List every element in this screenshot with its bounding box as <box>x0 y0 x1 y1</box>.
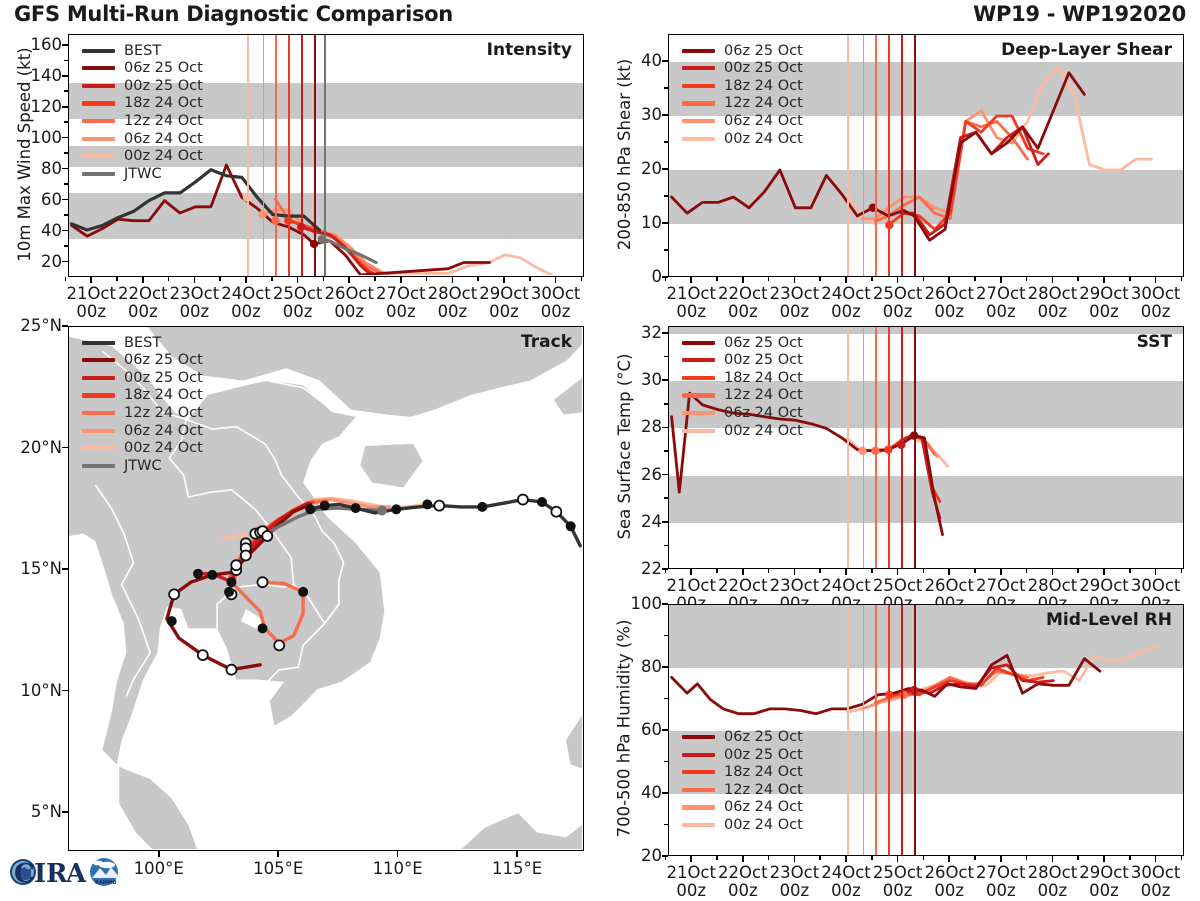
x-tick-mark <box>794 856 796 862</box>
y-tick-label: 30 <box>616 105 662 124</box>
x-tick-mark <box>1052 569 1054 575</box>
y-tick-mark <box>62 106 68 108</box>
x-minor-tick-mark <box>716 569 718 573</box>
x-minor-tick-mark <box>426 277 428 281</box>
y-tick-mark <box>62 137 68 139</box>
x-tick-hour: 00z <box>1120 882 1192 900</box>
x-tick-mark <box>452 277 454 283</box>
legend-label: 00z 25 Oct <box>124 79 203 94</box>
legend-item-06z-25-oct[interactable]: 06z 25 Oct <box>82 60 203 78</box>
map-y-tick-label: 20°N <box>2 438 62 457</box>
legend-swatch-00z-25-oct <box>682 358 715 362</box>
legend-label: 00z 24 Oct <box>724 818 803 833</box>
legend-swatch-18z-24-oct <box>82 393 115 397</box>
legend-item-06z-24-oct[interactable]: 06z 24 Oct <box>682 112 803 130</box>
y-tick-label: 60 <box>16 190 62 209</box>
init-time-line-00z-24-oct <box>847 605 849 855</box>
y-tick-label: 22 <box>616 559 662 578</box>
legend-swatch-00z-25-oct <box>682 66 715 70</box>
init-time-line-12z-24-oct <box>875 605 877 855</box>
legend-swatch-18z-24-oct <box>682 84 715 88</box>
x-minor-tick-mark <box>819 569 821 573</box>
map-x-tick-mark <box>397 851 399 857</box>
legend-label: 18z 24 Oct <box>724 79 803 94</box>
x-minor-tick-mark <box>716 277 718 281</box>
legend-label: 06z 24 Oct <box>124 132 203 147</box>
legend-swatch-06z-24-oct <box>682 805 715 809</box>
x-tick-mark <box>194 277 196 283</box>
y-axis-label-sst: Sea Surface Temp (°C) <box>615 325 634 568</box>
land-se-china-coast <box>554 376 582 415</box>
x-tick-mark <box>555 277 557 283</box>
track-position-marker <box>422 499 432 509</box>
x-tick-mark <box>1000 569 1002 575</box>
legend-item-06z-24-oct[interactable]: 06z 24 Oct <box>682 404 803 422</box>
legend-label: 00z 24 Oct <box>724 424 803 439</box>
legend-swatch-06z-25-oct <box>682 341 715 345</box>
legend-swatch-00z-25-oct <box>82 376 115 380</box>
x-minor-tick-mark <box>219 277 221 281</box>
x-tick-date: 30Oct <box>520 285 592 303</box>
x-minor-tick-mark <box>116 277 118 281</box>
track-position-marker <box>241 550 251 560</box>
legend-item-best[interactable]: BEST <box>82 334 203 352</box>
chart-legend: 06z 25 Oct00z 25 Oct18z 24 Oct12z 24 Oct… <box>682 42 803 148</box>
init-time-line-00z-24-oct <box>247 35 249 276</box>
x-minor-tick-mark <box>871 569 873 573</box>
x-minor-tick-mark <box>1129 856 1131 860</box>
init-time-line-12z-24-oct <box>275 35 277 276</box>
x-minor-tick-mark <box>974 277 976 281</box>
y-tick-label: 120 <box>16 97 62 116</box>
chart-legend: 06z 25 Oct00z 25 Oct18z 24 Oct12z 24 Oct… <box>682 334 803 440</box>
legend-item-06z-25-oct[interactable]: 06z 25 Oct <box>682 334 803 352</box>
track-position-marker <box>537 497 547 507</box>
y-tick-mark <box>662 379 668 381</box>
border-thailand-malaysia <box>167 774 203 789</box>
x-tick-label: 30Oct00z <box>1120 864 1192 901</box>
x-minor-tick-mark <box>271 277 273 281</box>
x-tick-mark <box>742 277 744 283</box>
legend-label: 00z 25 Oct <box>724 61 803 76</box>
legend-label: 00z 24 Oct <box>724 132 803 147</box>
x-tick-mark <box>142 277 144 283</box>
y-minor-tick-mark <box>64 245 68 247</box>
x-minor-tick-mark <box>768 277 770 281</box>
legend-label: 12z 24 Oct <box>724 388 803 403</box>
x-minor-tick-mark <box>974 856 976 860</box>
x-minor-tick-mark <box>1129 569 1131 573</box>
x-tick-mark <box>1155 277 1157 283</box>
x-tick-mark <box>348 277 350 283</box>
x-minor-tick-mark <box>768 569 770 573</box>
map-y-tick-mark <box>62 811 68 813</box>
y-minor-tick-mark <box>664 824 668 826</box>
legend-swatch-06z-25-oct <box>682 735 715 739</box>
legend-swatch-12z-24-oct <box>82 411 115 415</box>
series-line-00z-24-oct <box>247 198 552 275</box>
legend-item-00z-24-oct[interactable]: 00z 24 Oct <box>682 422 803 440</box>
x-tick-mark <box>690 277 692 283</box>
y-tick-mark <box>662 792 668 794</box>
y-tick-label: 80 <box>16 159 62 178</box>
legend-label: 06z 25 Oct <box>724 730 803 745</box>
legend-item-06z-24-oct[interactable]: 06z 24 Oct <box>82 130 203 148</box>
legend-item-00z-24-oct[interactable]: 00z 24 Oct <box>82 148 203 166</box>
legend-label: JTWC <box>124 459 162 474</box>
legend-swatch-00z-24-oct <box>82 154 115 158</box>
legend-label: 06z 25 Oct <box>724 44 803 59</box>
page-title: GFS Multi-Run Diagnostic Comparison <box>14 2 453 30</box>
legend-item-12z-24-oct[interactable]: 12z 24 Oct <box>82 112 203 130</box>
series-line-06z-24-oct <box>863 111 1013 219</box>
x-minor-tick-mark <box>1077 856 1079 860</box>
init-time-line-06z-25-oct <box>914 35 916 276</box>
y-tick-mark <box>662 222 668 224</box>
x-minor-tick-mark <box>768 856 770 860</box>
y-tick-label: 20 <box>16 252 62 271</box>
y-tick-label: 20 <box>616 846 662 865</box>
y-minor-tick-mark <box>664 195 668 197</box>
legend-item-18z-24-oct[interactable]: 18z 24 Oct <box>682 77 803 95</box>
y-minor-tick-mark <box>664 356 668 358</box>
legend-swatch-00z-24-oct <box>682 429 715 433</box>
init-time-line-06z-24-oct <box>863 605 865 855</box>
legend-item-best[interactable]: BEST <box>82 42 203 60</box>
panel-title-rh: Mid-Level RH <box>668 610 1172 630</box>
x-minor-tick-mark <box>1181 569 1183 573</box>
storm-id-title: WP19 - WP192020 <box>973 2 1186 30</box>
legend-item-18z-24-oct[interactable]: 18z 24 Oct <box>82 387 203 405</box>
y-tick-mark <box>662 168 668 170</box>
x-minor-tick-mark <box>581 277 583 281</box>
legend-label: 06z 24 Oct <box>724 800 803 815</box>
x-tick-mark <box>297 277 299 283</box>
legend-item-12z-24-oct[interactable]: 12z 24 Oct <box>682 781 803 799</box>
legend-item-00z-25-oct[interactable]: 00z 25 Oct <box>682 746 803 764</box>
y-minor-tick-mark <box>64 90 68 92</box>
legend-item-18z-24-oct[interactable]: 18z 24 Oct <box>682 764 803 782</box>
land-borneo <box>370 813 582 849</box>
legend-swatch-12z-24-oct <box>682 101 715 105</box>
legend-label: 00z 24 Oct <box>124 149 203 164</box>
x-tick-mark <box>948 856 950 862</box>
y-tick-mark <box>62 168 68 170</box>
legend-item-06z-24-oct[interactable]: 06z 24 Oct <box>82 422 203 440</box>
x-minor-tick-mark <box>1026 856 1028 860</box>
series-line-06z-25-oct <box>672 655 1100 713</box>
track-position-marker <box>551 507 561 517</box>
x-tick-date: 30Oct <box>1120 285 1192 303</box>
x-minor-tick-mark <box>1077 277 1079 281</box>
track-position-marker <box>262 531 272 541</box>
x-tick-mark <box>1103 856 1105 862</box>
init-time-line-00z-25-oct <box>901 605 903 855</box>
y-minor-tick-mark <box>664 635 668 637</box>
map-x-tick-mark <box>158 851 160 857</box>
x-minor-tick-mark <box>665 569 667 573</box>
y-minor-tick-mark <box>664 497 668 499</box>
legend-swatch-18z-24-oct <box>82 101 115 105</box>
legend-swatch-06z-24-oct <box>82 137 115 141</box>
legend-label: 12z 24 Oct <box>724 783 803 798</box>
y-tick-label: 24 <box>616 512 662 531</box>
x-tick-mark <box>845 856 847 862</box>
map-y-tick-mark <box>62 690 68 692</box>
y-minor-tick-mark <box>64 121 68 123</box>
x-minor-tick-mark <box>716 856 718 860</box>
map-y-tick-mark <box>62 568 68 570</box>
y-tick-mark <box>662 729 668 731</box>
x-tick-mark <box>1000 277 1002 283</box>
legend-item-00z-24-oct[interactable]: 00z 24 Oct <box>682 130 803 148</box>
track-position-marker <box>477 502 487 512</box>
x-minor-tick-mark <box>65 277 67 281</box>
legend-swatch-18z-24-oct <box>682 376 715 380</box>
y-tick-mark <box>62 230 68 232</box>
svg-text:RAMMB: RAMMB <box>95 880 117 886</box>
x-tick-mark <box>948 569 950 575</box>
y-tick-mark <box>662 60 668 62</box>
y-minor-tick-mark <box>64 183 68 185</box>
legend-swatch-jtwc <box>82 172 115 176</box>
legend-swatch-00z-24-oct <box>682 137 715 141</box>
x-tick-mark <box>1052 277 1054 283</box>
init-time-line-12z-24-oct <box>875 35 877 276</box>
x-minor-tick-mark <box>923 569 925 573</box>
init-time-line-00z-25-oct <box>901 35 903 276</box>
track-position-marker <box>167 616 177 626</box>
x-tick-mark <box>897 856 899 862</box>
x-minor-tick-mark <box>1026 277 1028 281</box>
y-minor-tick-mark <box>664 403 668 405</box>
init-time-line-00z-25-oct <box>301 35 303 276</box>
y-tick-label: 100 <box>16 128 62 147</box>
legend-label: 12z 24 Oct <box>124 114 203 129</box>
legend-item-18z-24-oct[interactable]: 18z 24 Oct <box>682 369 803 387</box>
x-tick-mark <box>845 277 847 283</box>
legend-label: 18z 24 Oct <box>124 388 203 403</box>
legend-swatch-18z-24-oct <box>682 770 715 774</box>
legend-item-12z-24-oct[interactable]: 12z 24 Oct <box>682 95 803 113</box>
init-time-line-00z-25-oct <box>901 327 903 568</box>
x-minor-tick-mark <box>323 277 325 281</box>
init-time-line-18z-24-oct <box>888 605 890 855</box>
map-y-tick-label: 15°N <box>2 559 62 578</box>
init-time-line-18z-24-oct <box>888 35 890 276</box>
legend-swatch-12z-24-oct <box>82 119 115 123</box>
track-position-marker <box>377 506 387 516</box>
track-position-marker <box>226 577 236 587</box>
legend-item-jtwc[interactable]: JTWC <box>82 165 203 183</box>
svg-text:A: A <box>65 859 87 889</box>
track-position-marker <box>207 570 217 580</box>
x-tick-mark <box>400 277 402 283</box>
x-tick-mark <box>742 856 744 862</box>
x-tick-mark <box>690 569 692 575</box>
legend-label: BEST <box>124 336 161 351</box>
legend-label: 18z 24 Oct <box>124 96 203 111</box>
legend-swatch-jtwc <box>82 464 115 468</box>
init-time-line-06z-24-oct <box>863 35 865 276</box>
legend-item-06z-25-oct[interactable]: 06z 25 Oct <box>682 42 803 60</box>
legend-swatch-06z-24-oct <box>682 119 715 123</box>
legend-item-06z-24-oct[interactable]: 06z 24 Oct <box>682 799 803 817</box>
x-tick-date: 30Oct <box>1120 577 1192 595</box>
y-tick-label: 80 <box>616 657 662 676</box>
legend-item-06z-25-oct[interactable]: 06z 25 Oct <box>682 728 803 746</box>
x-tick-mark <box>503 277 505 283</box>
legend-item-jtwc[interactable]: JTWC <box>82 457 203 475</box>
x-minor-tick-mark <box>923 277 925 281</box>
track-position-marker <box>518 495 528 505</box>
legend-label: BEST <box>124 44 161 59</box>
track-position-marker <box>298 587 308 597</box>
y-tick-mark <box>662 521 668 523</box>
map-x-tick-label: 115°E <box>473 860 561 878</box>
y-tick-label: 10 <box>616 213 662 232</box>
x-minor-tick-mark <box>374 277 376 281</box>
track-position-marker <box>231 560 241 570</box>
y-tick-mark <box>662 332 668 334</box>
x-tick-mark <box>690 856 692 862</box>
y-tick-label: 0 <box>616 267 662 286</box>
init-time-line-06z-24-oct <box>863 327 865 568</box>
legend-label: 06z 25 Oct <box>124 353 203 368</box>
jtwc-current-time-line <box>324 35 326 276</box>
legend-swatch-best <box>82 341 115 345</box>
track-position-marker <box>226 665 236 675</box>
legend-item-00z-24-oct[interactable]: 00z 24 Oct <box>82 440 203 458</box>
legend-item-00z-25-oct[interactable]: 00z 25 Oct <box>82 77 203 95</box>
legend-label: JTWC <box>124 167 162 182</box>
map-x-tick-label: 110°E <box>354 860 442 878</box>
legend-swatch-12z-24-oct <box>682 393 715 397</box>
x-minor-tick-mark <box>1181 856 1183 860</box>
y-tick-mark <box>62 261 68 263</box>
x-tick-mark <box>90 277 92 283</box>
y-tick-label: 40 <box>616 51 662 70</box>
x-minor-tick-mark <box>1077 569 1079 573</box>
track-position-marker <box>566 521 576 531</box>
legend-label: 00z 25 Oct <box>124 371 203 386</box>
y-tick-label: 20 <box>616 159 662 178</box>
map-x-tick-mark <box>516 851 518 857</box>
x-minor-tick-mark <box>871 277 873 281</box>
legend-item-12z-24-oct[interactable]: 12z 24 Oct <box>682 387 803 405</box>
map-y-tick-mark <box>62 447 68 449</box>
legend-item-12z-24-oct[interactable]: 12z 24 Oct <box>82 404 203 422</box>
y-minor-tick-mark <box>664 450 668 452</box>
x-tick-mark <box>245 277 247 283</box>
x-tick-hour: 00z <box>520 303 592 321</box>
land-malaysia <box>119 767 198 849</box>
x-tick-mark <box>794 277 796 283</box>
y-tick-label: 40 <box>16 221 62 240</box>
track-position-marker <box>434 501 444 511</box>
track-position-marker <box>391 504 401 514</box>
legend-label: 06z 25 Oct <box>724 336 803 351</box>
series-line-00z-24-oct <box>847 646 1157 712</box>
y-tick-mark <box>62 44 68 46</box>
x-minor-tick-mark <box>923 856 925 860</box>
legend-item-06z-25-oct[interactable]: 06z 25 Oct <box>82 352 203 370</box>
x-tick-mark <box>897 569 899 575</box>
legend-item-00z-24-oct[interactable]: 00z 24 Oct <box>682 816 803 834</box>
legend-swatch-00z-24-oct <box>682 823 715 827</box>
x-tick-mark <box>742 569 744 575</box>
chart-legend: 06z 25 Oct00z 25 Oct18z 24 Oct12z 24 Oct… <box>682 728 803 834</box>
x-tick-mark <box>794 569 796 575</box>
map-x-tick-mark <box>277 851 279 857</box>
y-minor-tick-mark <box>64 60 68 62</box>
legend-label: 06z 24 Oct <box>124 424 203 439</box>
y-minor-tick-mark <box>664 545 668 547</box>
x-tick-mark <box>1052 856 1054 862</box>
track-position-marker <box>198 650 208 660</box>
legend-swatch-06z-24-oct <box>682 411 715 415</box>
legend-item-18z-24-oct[interactable]: 18z 24 Oct <box>82 95 203 113</box>
x-tick-mark <box>897 277 899 283</box>
x-tick-date: 30Oct <box>1120 864 1192 882</box>
x-minor-tick-mark <box>665 277 667 281</box>
y-minor-tick-mark <box>64 152 68 154</box>
y-tick-label: 32 <box>616 323 662 342</box>
legend-item-00z-25-oct[interactable]: 00z 25 Oct <box>82 369 203 387</box>
y-minor-tick-mark <box>664 761 668 763</box>
y-tick-label: 140 <box>16 66 62 85</box>
track-position-marker <box>169 589 179 599</box>
legend-swatch-06z-25-oct <box>82 358 115 362</box>
y-tick-label: 60 <box>616 720 662 739</box>
map-y-tick-mark <box>62 325 68 327</box>
series-line-00z-25-oct <box>901 436 940 519</box>
chart-legend: BEST06z 25 Oct00z 25 Oct18z 24 Oct12z 24… <box>82 42 203 183</box>
x-tick-mark <box>948 277 950 283</box>
legend-label: 00z 24 Oct <box>124 441 203 456</box>
legend-swatch-06z-24-oct <box>82 429 115 433</box>
legend-swatch-06z-25-oct <box>682 49 715 53</box>
legend-item-00z-25-oct[interactable]: 00z 25 Oct <box>682 352 803 370</box>
y-minor-tick-mark <box>664 141 668 143</box>
x-minor-tick-mark <box>819 277 821 281</box>
init-time-line-18z-24-oct <box>888 327 890 568</box>
land-hainan <box>360 444 422 488</box>
x-tick-hour: 00z <box>1120 303 1192 321</box>
init-time-line-18z-24-oct <box>288 35 290 276</box>
init-time-line-06z-25-oct <box>914 327 916 568</box>
track-position-marker <box>305 504 315 514</box>
init-time-line-00z-24-oct <box>847 35 849 276</box>
svg-text:C: C <box>14 859 35 889</box>
legend-item-00z-25-oct[interactable]: 00z 25 Oct <box>682 60 803 78</box>
track-position-marker <box>274 640 284 650</box>
x-tick-mark <box>1103 569 1105 575</box>
x-tick-label: 30Oct00z <box>520 285 592 322</box>
land-palawan <box>566 711 582 769</box>
y-tick-mark <box>662 474 668 476</box>
svg-text:R: R <box>46 859 68 889</box>
y-tick-label: 26 <box>616 465 662 484</box>
map-y-tick-label: 25°N <box>2 316 62 335</box>
cira-logo: C I R A RAMMB <box>8 848 138 894</box>
x-tick-mark <box>1103 277 1105 283</box>
legend-label: 06z 24 Oct <box>724 114 803 129</box>
y-tick-mark <box>662 427 668 429</box>
legend-label: 00z 25 Oct <box>724 748 803 763</box>
legend-label: 06z 25 Oct <box>124 61 203 76</box>
x-minor-tick-mark <box>1181 277 1183 281</box>
